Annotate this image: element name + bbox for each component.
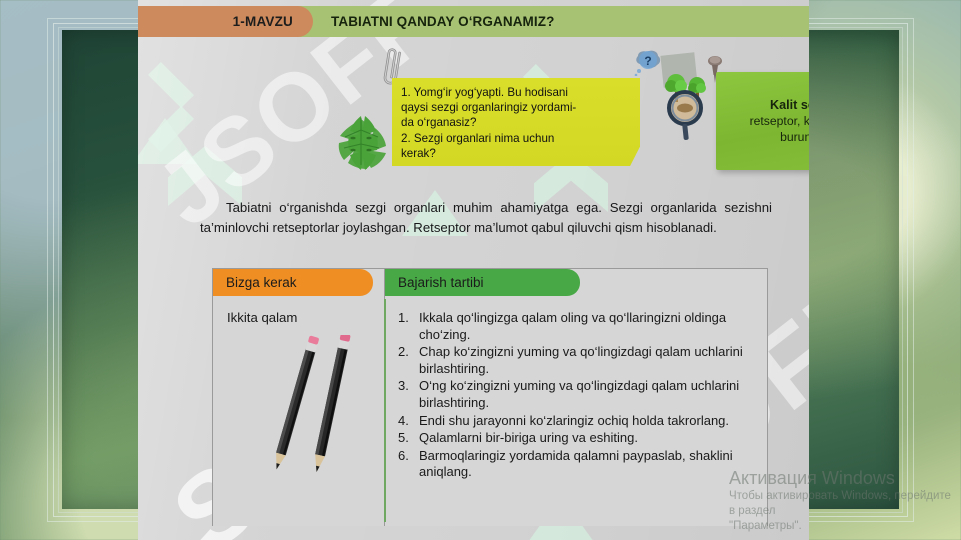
list-item: 4. Endi shu jarayonni ko‘zlaringiz ochiq… (398, 413, 761, 430)
question-line: 2. Sezgi organlari nima uchun (401, 131, 632, 146)
question-note-text: 1. Yomg‘ir yog‘yapti. Bu hodisani qaysi … (401, 85, 632, 161)
table-header-materials: Bizga kerak (213, 269, 373, 296)
list-item: 2. Chap ko‘zingizni yuming va qo‘lingizd… (398, 344, 761, 377)
textbook-slide: JSOFF SOFF SOFF 1-MAVZU TABIATNI QANDAY … (138, 0, 809, 540)
activity-table-left-column: Bizga kerak Ikkita qalam (213, 269, 385, 526)
topic-badge-label: 1-MAVZU (233, 14, 293, 29)
presentation-stage: JSOFF SOFF SOFF 1-MAVZU TABIATNI QANDAY … (0, 0, 961, 540)
step-text: Qalamlarni bir-biriga uring va eshiting. (419, 430, 761, 447)
body-paragraph: Tabiatni o‘rganishda sezgi organlari muh… (200, 198, 772, 237)
step-number: 1. (398, 310, 419, 343)
monstera-leaf-icon (331, 110, 393, 172)
list-item: 3. O‘ng ko‘zingizni yuming va qo‘lingizd… (398, 378, 761, 411)
table-header-procedure-label: Bajarish tartibi (398, 275, 484, 290)
question-line: qaysi sezgi organlaringiz yordami- (401, 100, 632, 115)
chevron-watermark (148, 62, 194, 108)
question-line: da o‘rganasiz? (401, 115, 632, 130)
keywords-line-2: burun, teri (780, 129, 809, 145)
list-item: 5. Qalamlarni bir-biriga uring va eshiti… (398, 430, 761, 447)
step-number: 5. (398, 430, 419, 447)
step-number: 6. (398, 448, 419, 481)
chevron-watermark (148, 106, 194, 152)
step-number: 3. (398, 378, 419, 411)
svg-text:?: ? (644, 54, 651, 68)
topic-badge: 1-MAVZU (138, 6, 313, 37)
list-item: 6. Barmoqlaringiz yordamida qalamni payp… (398, 448, 761, 481)
table-header-procedure: Bajarish tartibi (385, 269, 580, 296)
step-text: Chap ko‘zingizni yuming va qo‘lingizdagi… (419, 344, 761, 377)
column-divider (384, 299, 386, 522)
step-text: O‘ng ko‘zingizni yuming va qo‘lingizdagi… (419, 378, 761, 411)
keywords-note: Kalit so‘zlar: retseptor, ko‘z, quloq, b… (716, 72, 809, 170)
list-item: 1. Ikkala qo‘lingizga qalam oling va qo‘… (398, 310, 761, 343)
two-pencils-illustration (253, 335, 373, 483)
question-sticky-note: 1. Yomg‘ir yog‘yapti. Bu hodisani qaysi … (392, 78, 640, 166)
page-title: TABIATNI QANDAY O‘RGANAMIZ? (313, 14, 554, 29)
step-number: 2. (398, 344, 419, 377)
step-text: Barmoqlaringiz yordamida qalamni paypasl… (419, 448, 761, 481)
step-text: Endi shu jarayonni ko‘zlaringiz ochiq ho… (419, 413, 761, 430)
question-line: 1. Yomg‘ir yog‘yapti. Bu hodisani (401, 85, 632, 100)
slide-title-bar: 1-MAVZU TABIATNI QANDAY O‘RGANAMIZ? (138, 6, 809, 37)
activity-table: Bizga kerak Ikkita qalam (212, 268, 768, 526)
table-header-materials-label: Bizga kerak (226, 275, 297, 290)
activity-table-right-column: Bajarish tartibi (385, 269, 767, 526)
chevron-watermark (138, 118, 198, 164)
procedure-steps-list: 1. Ikkala qo‘lingizga qalam oling va qo‘… (398, 310, 761, 482)
keywords-line-1: retseptor, ko‘z, quloq, (750, 113, 809, 129)
question-line: kerak? (401, 146, 632, 161)
step-text: Ikkala qo‘lingizga qalam oling va qo‘lla… (419, 310, 761, 343)
step-number: 4. (398, 413, 419, 430)
chevron-watermark (168, 146, 242, 206)
materials-cell: Ikkita qalam (227, 310, 297, 325)
keywords-title: Kalit so‘zlar: (770, 98, 809, 112)
